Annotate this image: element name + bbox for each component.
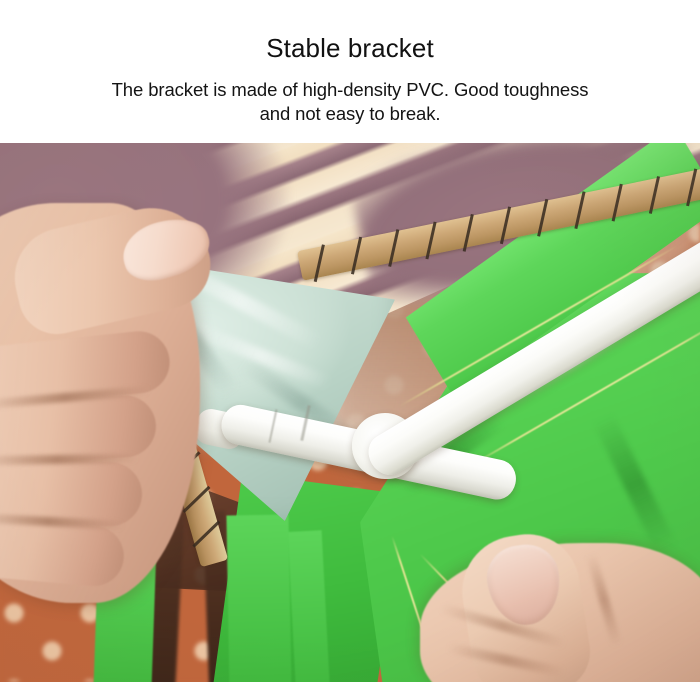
piping-stitch: [574, 191, 585, 229]
piping-stitch: [537, 199, 548, 237]
subtitle-block: The bracket is made of high-density PVC.…: [20, 78, 680, 126]
piping-stitch: [686, 169, 697, 207]
product-photo: [0, 143, 700, 682]
header-text-block: Stable bracket The bracket is made of hi…: [0, 0, 700, 143]
piping-stitch: [463, 214, 474, 252]
piping-stitch: [388, 229, 399, 267]
piping-stitch: [314, 244, 325, 282]
piping-stitch: [500, 206, 511, 244]
subtitle-line-2: and not easy to break.: [20, 102, 680, 126]
green-fabric-strip-2: [226, 514, 291, 682]
subtitle-line-1: The bracket is made of high-density PVC.…: [20, 78, 680, 102]
page-title: Stable bracket: [0, 32, 700, 64]
piping-stitch: [192, 520, 220, 547]
footer-white-strip: [0, 682, 700, 700]
product-feature-image: Stable bracket The bracket is made of hi…: [0, 0, 700, 700]
piping-stitch: [612, 184, 623, 222]
piping-stitch: [649, 176, 660, 214]
piping-stitch: [351, 237, 362, 275]
piping-stitch: [425, 222, 436, 260]
